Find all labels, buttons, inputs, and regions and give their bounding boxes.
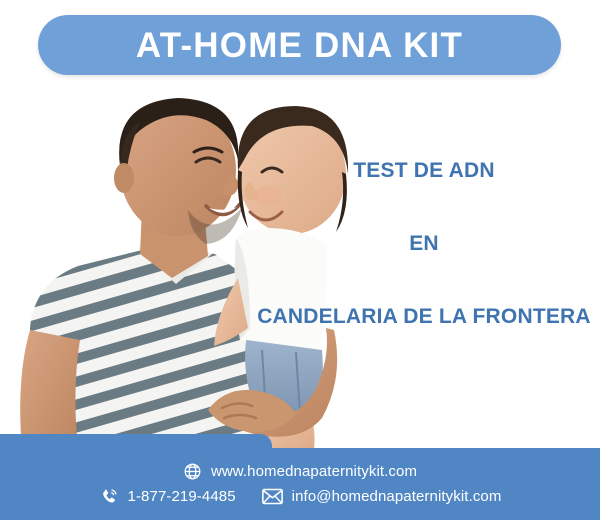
email-label: info@homednapaternitykit.com	[292, 488, 502, 505]
phone-label: 1-877-219-4485	[128, 488, 236, 505]
header-title-pill: AT-HOME DNA KIT	[38, 15, 561, 75]
email-item[interactable]: info@homednapaternitykit.com	[262, 488, 502, 505]
footer-contact-rows: www.homednapaternitykit.com 1-877-219-44…	[0, 448, 600, 520]
phone-item[interactable]: 1-877-219-4485	[99, 487, 236, 507]
headline-line-1: TEST DE ADN	[238, 160, 600, 181]
globe-icon	[183, 462, 202, 481]
headline-line-2: EN	[238, 233, 600, 254]
headline-line-3: CANDELARIA DE LA FRONTERA	[238, 306, 600, 327]
poster-canvas: AT-HOME DNA KIT	[0, 0, 600, 520]
footer-row-website: www.homednapaternitykit.com	[0, 462, 600, 481]
envelope-icon	[262, 488, 283, 505]
phone-icon	[99, 487, 119, 507]
headline-block: TEST DE ADN EN CANDELARIA DE LA FRONTERA	[238, 160, 600, 327]
website-label: www.homednapaternitykit.com	[211, 463, 417, 480]
footer-row-phone-email: 1-877-219-4485 info@homednapaternitykit.…	[0, 487, 600, 507]
page-title: AT-HOME DNA KIT	[136, 28, 463, 63]
website-item[interactable]: www.homednapaternitykit.com	[183, 462, 417, 481]
